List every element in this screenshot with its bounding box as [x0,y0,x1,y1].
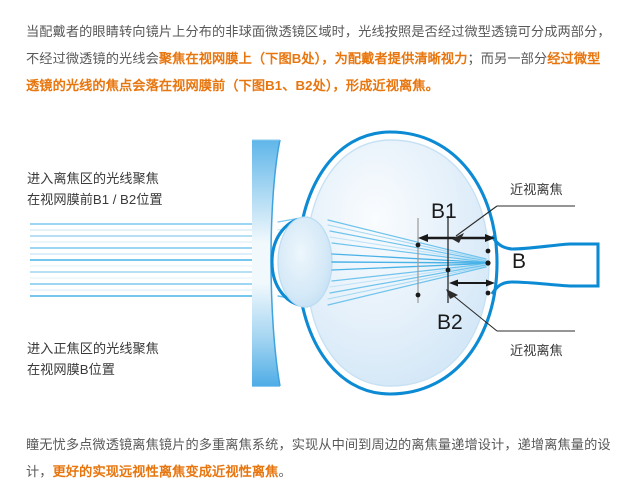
label-focus-zone-line1: 进入正焦区的光线聚焦 [27,338,159,359]
marker-b1: B1 [431,200,457,224]
intro-text-plain-2: ；而另一部分 [468,51,548,66]
marker-b2: B2 [437,311,463,335]
marker-b: B [512,250,526,274]
label-myopic-defocus-top: 近视离焦 [510,179,563,200]
closing-text-plain-2: 。 [278,464,291,479]
intro-paragraph: 当配戴者的眼睛转向镜片上分布的非球面微透镜区域时，光线按照是否经过微型透镜可分成… [26,18,612,99]
label-myopic-defocus-bottom: 近视离焦 [510,340,563,361]
closing-text-highlight-1: 更好的实现远视性离焦变成近视性离焦 [53,464,279,479]
label-focus-zone-line2: 在视网膜B位置 [27,359,159,380]
optic-nerve-icon [492,236,598,294]
label-defocus-zone: 进入离焦区的光线聚焦 在视网膜前B1 / B2位置 [27,168,163,210]
intro-text-highlight-1: 聚焦在视网膜上（下图B处），为配戴者提供清晰视力 [159,51,468,66]
label-defocus-zone-line1: 进入离焦区的光线聚焦 [27,168,163,189]
light-ray-bundle-icon [30,224,262,296]
closing-paragraph: 瞳无忧多点微透镜离焦镜片的多重离焦系统，实现从中间到周边的离焦量递增设计，递增离… [26,431,612,485]
label-defocus-zone-line2: 在视网膜前B1 / B2位置 [27,189,163,210]
crystalline-lens-icon [278,217,332,307]
label-focus-zone: 进入正焦区的光线聚焦 在视网膜B位置 [27,338,159,380]
myopic-defocus-eye-diagram: 进入离焦区的光线聚焦 在视网膜前B1 / B2位置 进入正焦区的光线聚焦 在视网… [0,118,631,408]
